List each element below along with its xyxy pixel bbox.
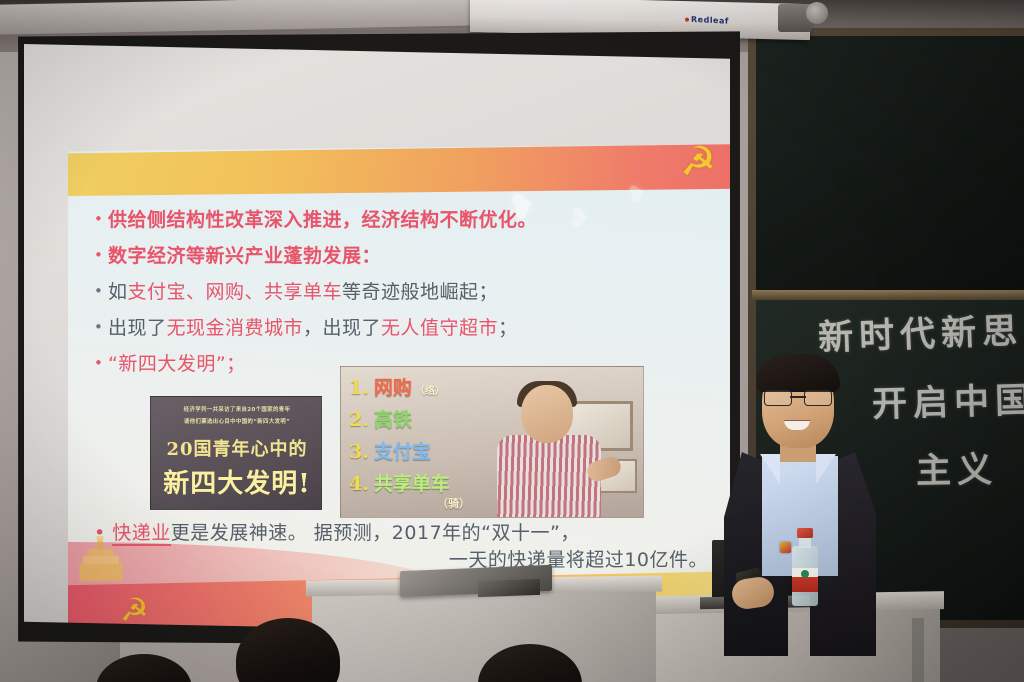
bullet-item-3: • 如支付宝、网购、共享单车等奇迹般地崛起； xyxy=(94,278,720,306)
tiananmen-decoration-icon xyxy=(74,536,128,588)
poster-headline-2: 新四大发明! xyxy=(159,463,315,500)
item-word: 网购 xyxy=(374,377,412,399)
water-bottle[interactable] xyxy=(792,528,818,606)
item-number: 3. xyxy=(349,441,369,463)
blackboard-line-2: 开启中国 xyxy=(871,372,1024,427)
bullet-seg-plain: ； xyxy=(498,317,518,339)
item-note: （络） xyxy=(415,386,445,397)
closing-rest: 更是发展神速。 据预测，2017年的“双十一”， xyxy=(171,522,580,544)
bullet-seg-plain: 等奇迹般地崛起； xyxy=(342,281,498,303)
bottle-neck xyxy=(799,538,811,548)
poster-headline-1: 20国青年心中的 xyxy=(159,435,315,461)
party-emblem-icon: ☭ xyxy=(680,144,716,182)
bullet-item-2: • 数字经济等新兴产业蓬勃发展： xyxy=(94,242,720,270)
roller-knob xyxy=(806,2,828,24)
item-word: 高铁 xyxy=(374,409,412,431)
bullet-dot-icon: • xyxy=(94,314,108,340)
video-list-item-1: 1.网购（络） xyxy=(349,373,445,400)
bullet-seg-plain: 如 xyxy=(108,281,128,303)
speaker-shirt xyxy=(497,435,601,518)
projection-screen: ☭ ❥ ❥ ❥ • 供给侧结构性改革深入推进，经济结构不断优化。 • 数字经济等… xyxy=(24,44,730,636)
presentation-slide: ☭ ❥ ❥ ❥ • 供给侧结构性改革深入推进，经济结构不断优化。 • 数字经济等… xyxy=(68,144,740,632)
presenter-hair xyxy=(756,354,840,392)
poster-caption-line-1: 经济学列一共采访了来自20个国家的青年 xyxy=(159,405,315,413)
item-number: 1. xyxy=(349,377,369,399)
video-list-item-3: 3.支付宝 xyxy=(349,437,431,464)
bullet-dot-icon: • xyxy=(94,242,108,268)
classroom-photo: 新时代新思 开启中国 主义 Redleaf ☭ ❥ ❥ ❥ • 供给侧结构性改革… xyxy=(0,0,1024,682)
blackboard-line-3: 主义 xyxy=(916,441,999,493)
brand-text: Redleaf xyxy=(691,15,729,26)
blackboard-line-1: 新时代新思 xyxy=(817,302,1024,360)
bullet-text: “新四大发明”； xyxy=(108,350,246,378)
desk-leg xyxy=(912,618,924,682)
blackboard-upper-panel xyxy=(756,36,1024,292)
shirt-collar xyxy=(816,454,836,484)
bullet-dot-icon: • xyxy=(94,350,108,376)
bullet-dot-icon: • xyxy=(94,278,108,304)
video-list-item-4: 4.共享单车 xyxy=(349,469,450,496)
bullet-seg-plain: ，出现了 xyxy=(303,317,381,339)
bullet-text: 供给侧结构性改革深入推进，经济结构不断优化。 xyxy=(108,206,537,234)
bullet-text: 如支付宝、网购、共享单车等奇迹般地崛起； xyxy=(108,278,498,306)
item-number: 4. xyxy=(349,473,369,495)
bullet-item-4: • 出现了无现金消费城市，出现了无人值守超市； xyxy=(94,314,720,342)
party-lapel-pin-icon xyxy=(780,542,791,553)
bottle-logo-icon xyxy=(801,570,809,578)
bullet-text: 出现了无现金消费城市，出现了无人值守超市； xyxy=(108,314,518,342)
projector-brand-label: Redleaf xyxy=(685,15,729,26)
video-list-footnote: （骑） xyxy=(437,495,470,511)
bullet-dot-icon: • xyxy=(94,206,108,232)
eyeglasses-icon xyxy=(764,390,832,405)
bullet-seg-highlight: 支付宝、网购、共享单车 xyxy=(128,281,343,303)
item-word: 支付宝 xyxy=(374,441,431,463)
lectern-control-device-secondary[interactable] xyxy=(478,579,540,597)
bullet-text: 数字经济等新兴产业蓬勃发展： xyxy=(108,242,381,270)
video-list-item-2: 2.高铁 xyxy=(349,405,412,432)
shirt-collar xyxy=(760,454,780,484)
slide-poster-image: 经济学列一共采访了来自20个国家的青年 请他们票选出心目中中国的“新四大发明” … xyxy=(150,396,322,510)
item-word: 共享单车 xyxy=(374,473,450,495)
bullet-item-1: • 供给侧结构性改革深入推进，经济结构不断优化。 xyxy=(94,206,720,234)
bottle-cap xyxy=(797,528,813,538)
bullet-seg-highlight: 无现金消费城市 xyxy=(167,317,304,339)
speaker-head xyxy=(521,385,573,443)
slide-bullet-list: • 供给侧结构性改革深入推进，经济结构不断优化。 • 数字经济等新兴产业蓬勃发展… xyxy=(94,206,720,386)
video-speaker-figure xyxy=(491,385,613,517)
bullet-seg-plain: 出现了 xyxy=(108,317,167,339)
item-number: 2. xyxy=(349,409,369,431)
closing-line-1: • 快递业更是发展神速。 据预测，2017年的“双十一”， xyxy=(94,520,724,547)
slide-video-still[interactable]: 1.网购（络） 2.高铁 3.支付宝 4.共享单车 （骑） xyxy=(340,366,644,518)
poster-caption-line-2: 请他们票选出心目中中国的“新四大发明” xyxy=(159,417,315,425)
bullet-seg-highlight: 无人值守超市 xyxy=(381,317,498,339)
party-emblem-icon: ☭ xyxy=(120,594,149,626)
presenter xyxy=(718,356,878,656)
